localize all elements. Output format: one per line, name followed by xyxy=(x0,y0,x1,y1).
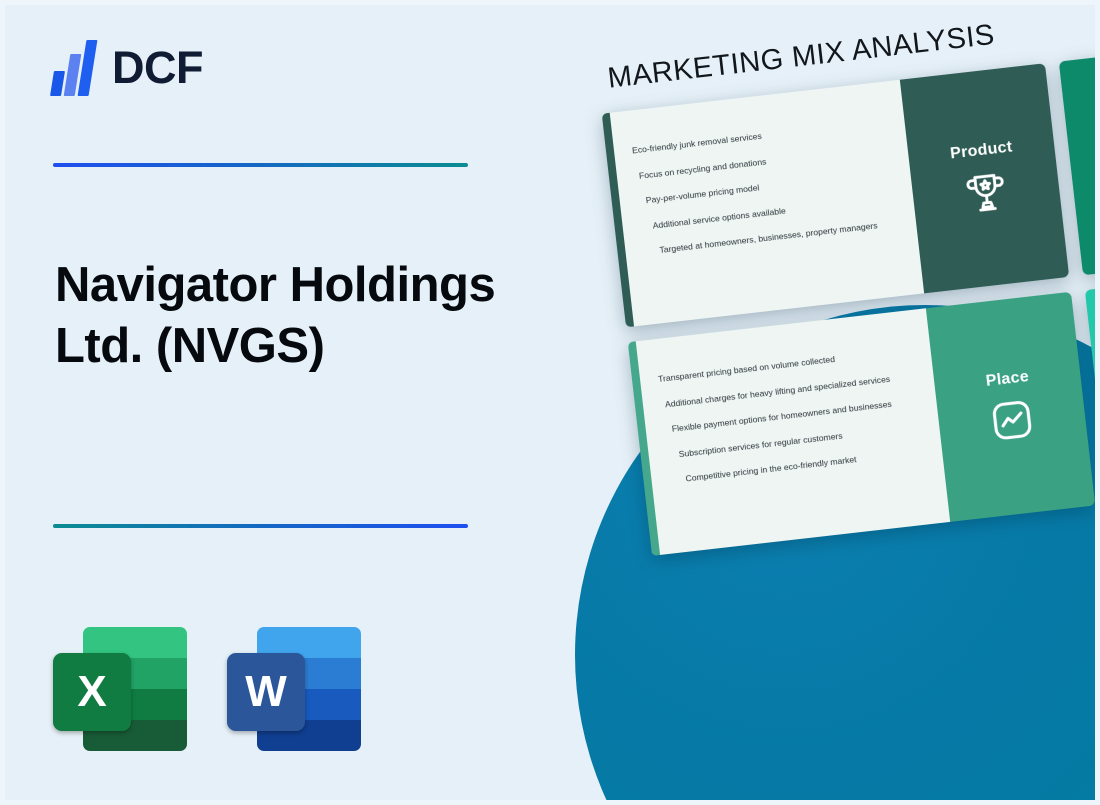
place-label-card[interactable]: Place xyxy=(926,292,1095,522)
marketing-mix-graphic: MARKETING MIX ANALYSIS Eco-friendly junk… xyxy=(545,5,1100,805)
product-label: Product xyxy=(949,138,1013,163)
divider-bottom xyxy=(53,524,468,528)
word-file-icon[interactable]: W xyxy=(227,627,361,751)
word-letter: W xyxy=(227,653,305,731)
trophy-icon xyxy=(959,165,1012,218)
brand-logo[interactable]: DCF xyxy=(50,38,203,96)
download-icons: X W xyxy=(53,627,361,751)
place-details-card: Transparent pricing based on volume coll… xyxy=(628,308,950,556)
logo-bar-1 xyxy=(50,71,65,96)
product-bullet-list: Eco-friendly junk removal services Focus… xyxy=(632,117,909,274)
page-title: Navigator Holdings Ltd. (NVGS) xyxy=(55,255,525,378)
marketing-mix-slide: MARKETING MIX ANALYSIS Eco-friendly junk… xyxy=(587,5,1100,572)
left-panel: DCF Navigator Holdings Ltd. (NVGS) X W xyxy=(5,5,565,805)
product-card-edge xyxy=(602,113,634,328)
place-bullet-list: Transparent pricing based on volume coll… xyxy=(658,345,935,502)
product-details-card: Eco-friendly junk removal services Focus… xyxy=(602,80,924,328)
divider-top xyxy=(53,163,468,167)
product-label-card[interactable]: Product xyxy=(900,63,1069,293)
brand-logo-text: DCF xyxy=(112,45,203,90)
slide-canvas: DCF Navigator Holdings Ltd. (NVGS) X W xyxy=(0,0,1100,805)
place-label: Place xyxy=(985,368,1030,391)
trend-chart-icon xyxy=(985,393,1038,446)
excel-letter: X xyxy=(53,653,131,731)
logo-bar-3 xyxy=(78,40,98,96)
excel-file-icon[interactable]: X xyxy=(53,627,187,751)
bar-chart-logo-icon xyxy=(50,38,98,96)
